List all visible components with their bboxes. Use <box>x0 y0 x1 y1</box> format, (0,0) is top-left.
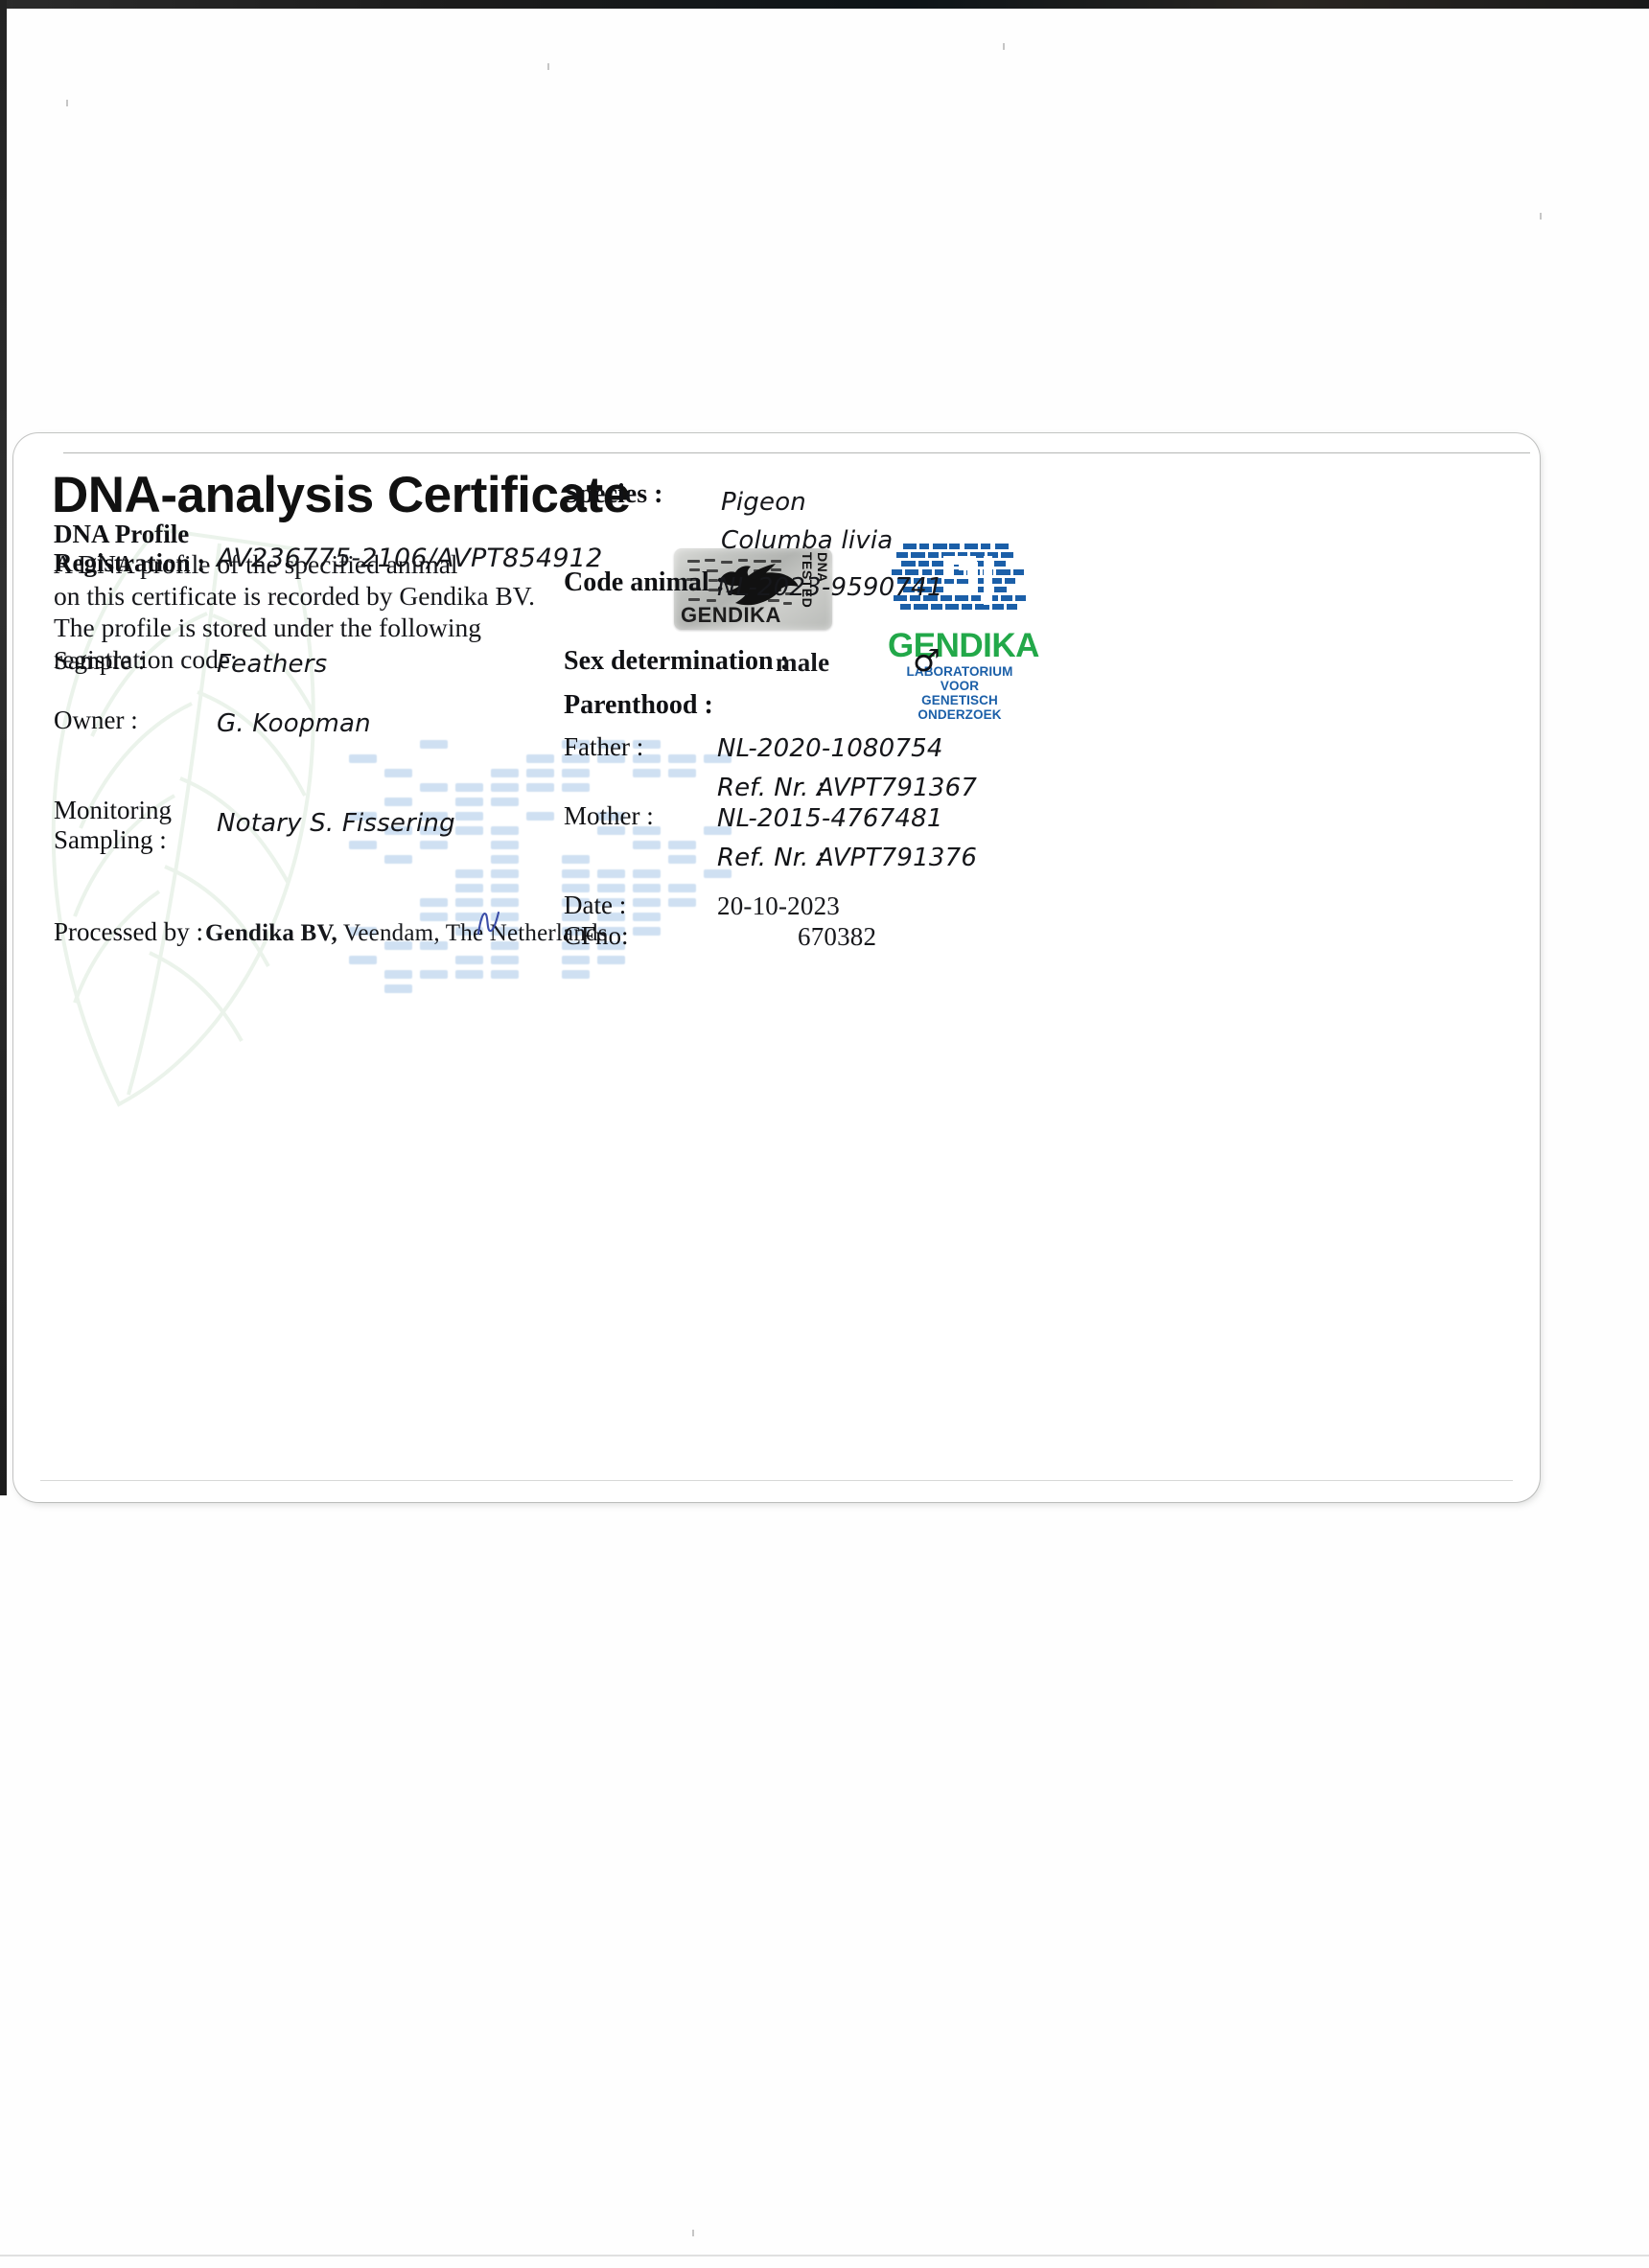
dna-gel-band <box>526 754 554 763</box>
dna-gel-band <box>349 956 377 964</box>
sex-determination-label: Sex determination : <box>564 646 789 677</box>
dna-gel-band <box>349 841 377 849</box>
sticker-gel-band <box>687 560 700 563</box>
scan-speck <box>1003 43 1005 50</box>
dna-gel-band <box>597 956 625 964</box>
signature-mark <box>476 905 504 937</box>
dna-gel-band <box>597 869 625 878</box>
date-value: 20-10-2023 <box>717 891 840 921</box>
dna-gel-band <box>668 884 696 892</box>
gendika-tagline: LABORATORIUM VOOR GENETISCH ONDERZOEK <box>888 664 1032 722</box>
sticker-brand-text: GENDIKA <box>681 603 781 628</box>
dna-gel-band <box>455 956 483 964</box>
dna-gel-band <box>455 798 483 806</box>
dna-gel-band <box>633 884 661 892</box>
mother-label: Mother : <box>564 801 654 831</box>
dna-gel-band <box>633 869 661 878</box>
dna-gel-band <box>491 884 519 892</box>
dna-gel-band <box>633 841 661 849</box>
scan-speck <box>1540 213 1542 220</box>
dna-gel-band <box>633 898 661 907</box>
dna-gel-band <box>384 769 412 777</box>
mother-ref-label: Ref. Nr. : <box>717 844 824 872</box>
dna-gel-band <box>668 841 696 849</box>
dna-gel-band <box>491 869 519 878</box>
dna-gel-band <box>491 769 519 777</box>
owner-label: Owner : <box>54 706 138 735</box>
scanner-left-edge-artifact <box>0 0 7 1495</box>
dna-gel-band <box>384 970 412 979</box>
monitoring-sampling-label: Monitoring Sampling : <box>54 796 172 855</box>
sticker-gel-band <box>688 598 700 601</box>
dna-gel-band <box>562 869 590 878</box>
dna-gel-band <box>420 740 448 749</box>
species-latin-name-value: Columba livia <box>721 526 893 555</box>
dna-gel-band <box>633 913 661 921</box>
scan-speck <box>66 100 68 106</box>
sample-label: Sample : <box>54 646 145 676</box>
sample-value: Feathers <box>217 650 327 679</box>
dna-gel-band <box>526 783 554 792</box>
dna-gel-band <box>455 970 483 979</box>
page-title: DNA-analysis Certificate <box>52 466 631 524</box>
dna-gel-band <box>349 754 377 763</box>
dna-gel-band <box>491 970 519 979</box>
father-value: NL-2020-1080754 <box>717 734 943 763</box>
dna-gel-band <box>491 826 519 835</box>
dna-profile-registration-label: DNA Profile Registration : <box>54 520 205 577</box>
dna-gel-band <box>491 956 519 964</box>
dna-gel-band <box>668 898 696 907</box>
scan-speck <box>547 63 549 70</box>
processed-by-company: Gendika BV, <box>205 920 337 946</box>
certificate-card: DNA-analysis Certificate A DNA profile o… <box>13 433 1540 1502</box>
dna-gel-band <box>420 898 448 907</box>
dna-gel-band <box>384 855 412 864</box>
mother-value: NL-2015-4767481 <box>717 804 943 833</box>
mother-ref-value: AVPT791376 <box>817 844 977 872</box>
dna-gel-band <box>668 769 696 777</box>
monitoring-sampling-value: Notary S. Fissering <box>217 809 455 838</box>
dna-gel-band <box>633 769 661 777</box>
dna-gel-band <box>491 855 519 864</box>
dna-gel-band <box>420 783 448 792</box>
owner-value: G. Koopman <box>217 709 371 738</box>
dna-gel-band <box>633 927 661 936</box>
father-label: Father : <box>564 732 643 762</box>
dna-gel-band <box>420 970 448 979</box>
father-ref-label: Ref. Nr. : <box>717 774 824 802</box>
dna-gel-band <box>420 841 448 849</box>
male-symbol-icon: ♂ <box>913 642 941 679</box>
dna-gel-band <box>384 984 412 993</box>
dna-gel-band <box>526 769 554 777</box>
dna-gel-band <box>491 798 519 806</box>
dna-gel-band <box>668 754 696 763</box>
dna-gel-band <box>455 783 483 792</box>
parenthood-label: Parenthood : <box>564 690 713 721</box>
code-animal-value: NL-2023-9590741 <box>717 573 943 602</box>
dna-gel-band <box>562 783 590 792</box>
scan-speck <box>692 2230 694 2236</box>
card-bottom-rule <box>40 1480 1513 1481</box>
gendika-logo: GENDIKA LABORATORIUM VOOR GENETISCH ONDE… <box>888 539 1032 692</box>
code-animal-label: Code animal : <box>564 567 725 598</box>
dna-gel-band <box>562 956 590 964</box>
dna-gel-band <box>455 826 483 835</box>
sex-determination-value: male <box>776 648 829 678</box>
dna-gel-band <box>562 855 590 864</box>
dna-gel-band <box>455 884 483 892</box>
dna-gel-band <box>455 869 483 878</box>
cfno-value: 670382 <box>798 922 876 952</box>
species-label: Species : <box>564 479 662 510</box>
card-inner-rule <box>63 452 1530 453</box>
species-common-name-value: Pigeon <box>721 488 806 517</box>
processed-by-label: Processed by : <box>54 917 203 947</box>
gendika-wordmark: GENDIKA <box>888 627 1032 665</box>
processed-by-value: Gendika BV, Veendam, The Netherlands <box>205 920 608 947</box>
dna-gel-band <box>562 769 590 777</box>
dna-gel-band <box>455 812 483 821</box>
dna-profile-registration-value: AV236775-2106/AVPT854912 <box>217 544 602 573</box>
dna-gel-band <box>491 783 519 792</box>
scanner-bottom-edge-artifact <box>0 2255 1649 2256</box>
dna-gel-band <box>668 855 696 864</box>
cfno-label: CFno: <box>564 921 629 951</box>
father-ref-value: AVPT791367 <box>817 774 977 802</box>
dna-gel-watermark <box>349 740 752 989</box>
dna-gel-band <box>491 841 519 849</box>
date-label: Date : <box>564 891 626 920</box>
dna-gel-band <box>562 970 590 979</box>
dna-gel-band <box>526 812 554 821</box>
gendika-tagline-line1: LABORATORIUM VOOR <box>888 664 1032 693</box>
gendika-tagline-line2: GENETISCH ONDERZOEK <box>888 693 1032 722</box>
scanner-top-edge-artifact <box>0 0 1649 9</box>
dna-gel-band <box>384 798 412 806</box>
